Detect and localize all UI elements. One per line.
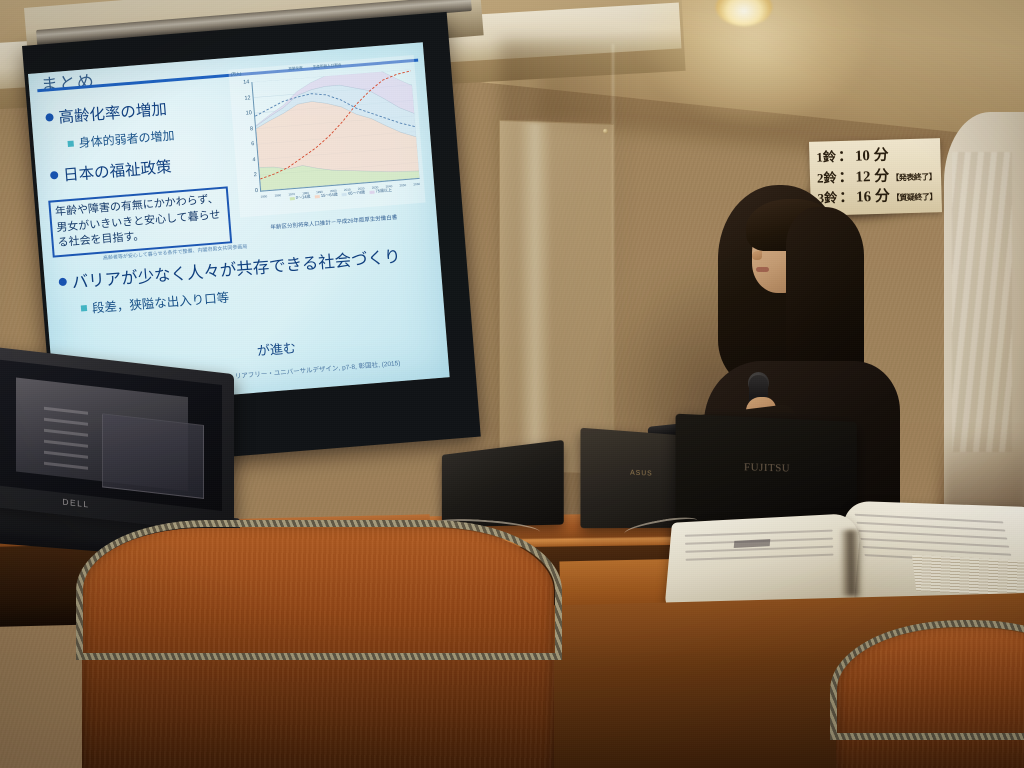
slide-bullet-2-label: 身体的弱者の増加 [78, 126, 175, 151]
slide-citation: リアフリー・ユニバーサルデザイン, p7-8, 彰国社, (2015) [234, 357, 400, 380]
chart-y-tick: 2 [241, 172, 257, 179]
sign-row-3-note: 【質疑終了】 [892, 192, 937, 204]
slide-bullet-1: 高齢化率の増加 [45, 97, 168, 129]
chart-y-tick: 4 [239, 157, 255, 164]
laptop-dell[interactable]: DELL [0, 360, 246, 546]
chart-legend-item: 75歳以上 [369, 187, 392, 195]
chart-y-tick: 8 [237, 126, 253, 133]
shirt-folds [952, 152, 1012, 452]
booklet-spine-gutter [839, 530, 862, 596]
laptop-mid-left[interactable] [442, 440, 564, 527]
presenter-nose [752, 251, 762, 260]
chart-legend-swatch [369, 190, 374, 193]
projected-slide: まとめ 高齢化率の増加 身体的弱者の増加 日本の福祉政策 年齢や障害の有無にかか… [28, 42, 450, 409]
chart-legend-item: 0〜14歳 [289, 194, 311, 202]
booklet-left-text-lines [669, 529, 850, 567]
chart-y-tick: 6 [238, 141, 254, 148]
chart-caption: 年齢区分別将来人口推計－平成26年版厚生労働白書 [241, 211, 427, 234]
chart-y-tick: 12 [234, 95, 250, 102]
booklet-left-page [664, 513, 861, 611]
chair-front-left-trim [76, 520, 562, 660]
sign-row-1-sep: ： [838, 147, 854, 168]
population-projection-chart: (万人) 高齢化率 生産年齢人口割合 02468101214 195019601… [228, 55, 425, 217]
wall-whiteboard-panel [499, 120, 614, 474]
chart-y-tick: 14 [233, 79, 249, 86]
fujitsu-logo: FUJITSU [744, 461, 790, 474]
slide-lower-text: が進む [256, 337, 296, 359]
chart-line-legend-0: 高齢化率 [288, 66, 303, 72]
chart-legend-swatch [314, 195, 319, 198]
slide-bullet-5: 段差，狭隘な出入り口等 [80, 287, 230, 318]
slide-bullet-3: 日本の福祉政策 [49, 155, 172, 187]
chart-y-tick: 10 [236, 110, 252, 117]
slide-bullet-1-label: 高齢化率の増加 [58, 97, 168, 128]
chart-legend-label: 0〜14歳 [296, 194, 311, 201]
chart-legend-label: 15〜64歳 [321, 192, 338, 199]
laptop-dell-sidebar [44, 407, 88, 486]
asus-logo: ASUS [630, 470, 653, 478]
slide-bullet-5-label: 段差，狭隘な出入り口等 [91, 287, 230, 317]
chart-plot-area [251, 69, 419, 191]
chart-legend-swatch [289, 197, 294, 200]
laptop-dell-window [16, 378, 188, 492]
booklet-page-edges [912, 555, 1024, 598]
presenter-mouth [756, 267, 769, 272]
chart-unit-label: (万人) [230, 71, 241, 78]
sign-row-1-time: 10 分 [855, 146, 889, 168]
whiteboard-sheen [518, 122, 552, 471]
chart-legend-item: 15〜64歳 [314, 192, 338, 200]
chart-legend-swatch [342, 192, 347, 195]
chart-top-legend: 高齢化率 生産年齢人口割合 [288, 63, 341, 72]
slide-bullet-2: 身体的弱者の増加 [67, 126, 175, 152]
chart-legend-label: 65〜74歳 [348, 189, 365, 196]
laptop-dell-screen [0, 359, 222, 511]
conference-room-photo: まとめ 高齢化率の増加 身体的弱者の増加 日本の福祉政策 年齢や障害の有無にかか… [0, 0, 1024, 768]
slide-bullet-3-label: 日本の福祉政策 [62, 155, 172, 186]
sign-row-2-note: 【発表終了】 [891, 171, 936, 183]
chart-line-legend-1: 生産年齢人口割合 [313, 63, 342, 70]
chart-legend-item: 65〜74歳 [342, 189, 366, 197]
chart-legend-label: 75歳以上 [375, 187, 392, 194]
sign-row-1-bell: 1鈴 [816, 148, 836, 166]
laptop-dell-document [102, 413, 204, 499]
whiteboard-screw-top [603, 129, 608, 134]
chart-y-tick: 0 [242, 188, 258, 195]
